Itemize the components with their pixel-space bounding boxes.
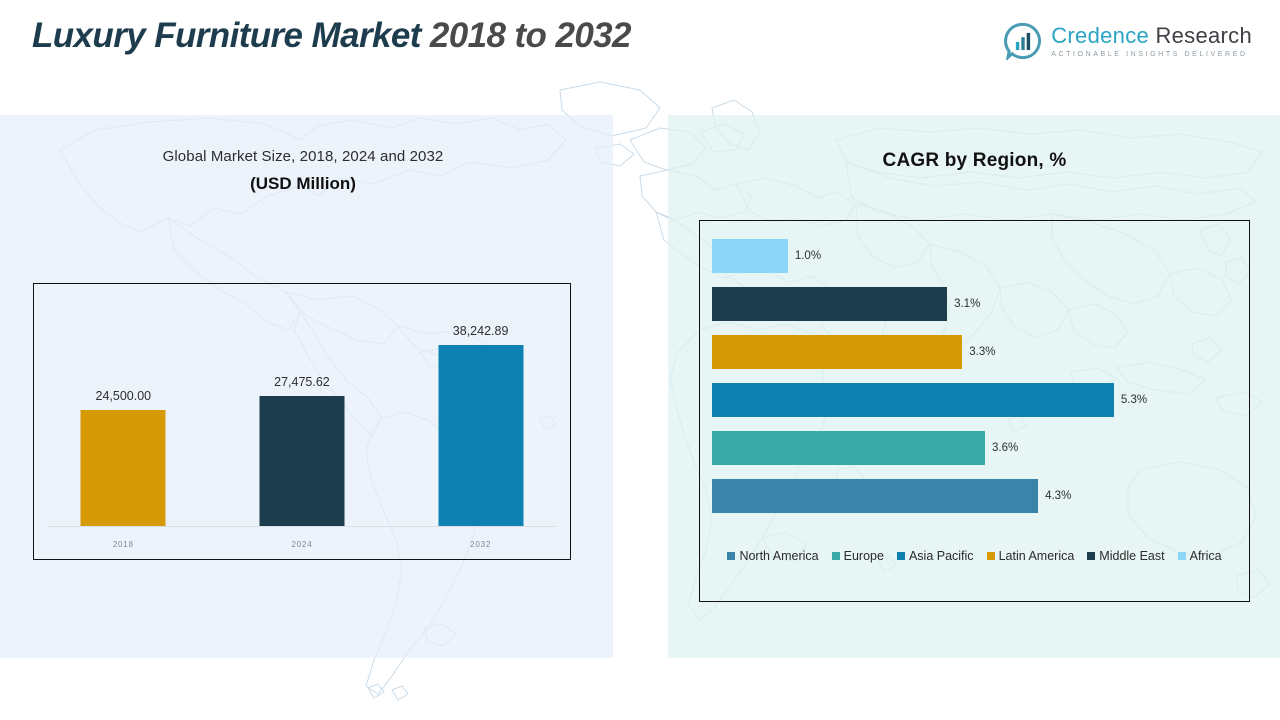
cagr-value-label: 3.1% [954,298,980,310]
bar-chart-circle-icon [1004,22,1042,60]
cagr-bar-row: 1.0% [712,239,1239,273]
bar-value-label: 38,242.89 [453,324,509,338]
market-size-bar-chart: 24,500.00201827,475.62202438,242.892032 [33,283,571,560]
logo-text: Credence Research Actionable Insights De… [1051,25,1252,58]
cagr-bar-row: 3.1% [712,287,1239,321]
cagr-bar-north-america [712,479,1038,513]
bar-category-label: 2024 [291,540,312,549]
left-chart-heading: Global Market Size, 2018, 2024 and 2032 … [33,148,573,194]
cagr-value-label: 5.3% [1121,394,1147,406]
bar-chart-baseline [48,526,556,527]
bar-group: 27,475.622024 [213,284,392,559]
cagr-by-region-chart: 1.0%3.1%3.3%5.3%3.6%4.3% North AmericaEu… [699,220,1250,602]
page-title-primary: Luxury Furniture Market [32,16,430,55]
bar-value-label: 27,475.62 [274,375,330,389]
cagr-chart-title: CAGR by Region, % [699,150,1250,172]
header: Luxury Furniture Market 2018 to 2032 Cre… [0,0,1280,88]
cagr-value-label: 3.6% [992,442,1018,454]
left-chart-subtitle: Global Market Size, 2018, 2024 and 2032 [33,148,573,165]
bar-value-label: 24,500.00 [96,389,152,403]
cagr-bar-row: 3.6% [712,431,1239,465]
legend-swatch-icon [727,552,735,560]
legend-label: Europe [844,549,884,563]
legend-swatch-icon [832,552,840,560]
cagr-bar-asia-pacific [712,383,1114,417]
bar-plot-area: 24,500.00201827,475.62202438,242.892032 [34,284,570,559]
cagr-bar-africa [712,239,788,273]
legend-swatch-icon [897,552,905,560]
legend-swatch-icon [1087,552,1095,560]
bar-category-label: 2032 [470,540,491,549]
bar-2024: 27,475.62 [259,396,344,527]
bar-2018: 24,500.00 [81,410,166,527]
bar-group: 38,242.892032 [391,284,570,559]
cagr-bar-row: 5.3% [712,383,1239,417]
logo-wordmark: Credence Research [1051,25,1252,47]
bar-category-label: 2018 [113,540,134,549]
cagr-value-label: 4.3% [1045,490,1071,502]
legend-swatch-icon [987,552,995,560]
legend-item-north-america[interactable]: North America [727,549,818,563]
page-title: Luxury Furniture Market 2018 to 2032 [32,16,631,56]
cagr-bar-row: 3.3% [712,335,1239,369]
cagr-bar-row: 4.3% [712,479,1239,513]
cagr-bar-middle-east [712,287,947,321]
cagr-bar-europe [712,431,985,465]
legend-label: Asia Pacific [909,549,974,563]
legend-item-asia-pacific[interactable]: Asia Pacific [897,549,974,563]
cagr-plot-area: 1.0%3.1%3.3%5.3%3.6%4.3% [712,239,1239,531]
cagr-legend: North AmericaEuropeAsia PacificLatin Ame… [700,549,1249,563]
legend-label: North America [739,549,818,563]
legend-item-middle-east[interactable]: Middle East [1087,549,1164,563]
left-chart-unit-label: (USD Million) [33,174,573,194]
credence-research-logo: Credence Research Actionable Insights De… [1004,22,1252,60]
legend-label: Middle East [1099,549,1164,563]
right-chart-heading: CAGR by Region, % [699,150,1250,172]
page-title-secondary: 2018 to 2032 [430,16,631,55]
legend-swatch-icon [1178,552,1186,560]
logo-wordmark-second: Research [1149,23,1252,48]
cagr-bar-latin-america [712,335,962,369]
legend-label: Africa [1190,549,1222,563]
cagr-value-label: 1.0% [795,250,821,262]
legend-item-europe[interactable]: Europe [832,549,884,563]
legend-item-latin-america[interactable]: Latin America [987,549,1075,563]
bar-group: 24,500.002018 [34,284,213,559]
legend-label: Latin America [999,549,1075,563]
cagr-value-label: 3.3% [969,346,995,358]
legend-item-africa[interactable]: Africa [1178,549,1222,563]
bar-2032: 38,242.89 [438,345,523,527]
logo-tagline: Actionable Insights Delivered [1051,51,1252,58]
logo-wordmark-first: Credence [1051,23,1149,48]
